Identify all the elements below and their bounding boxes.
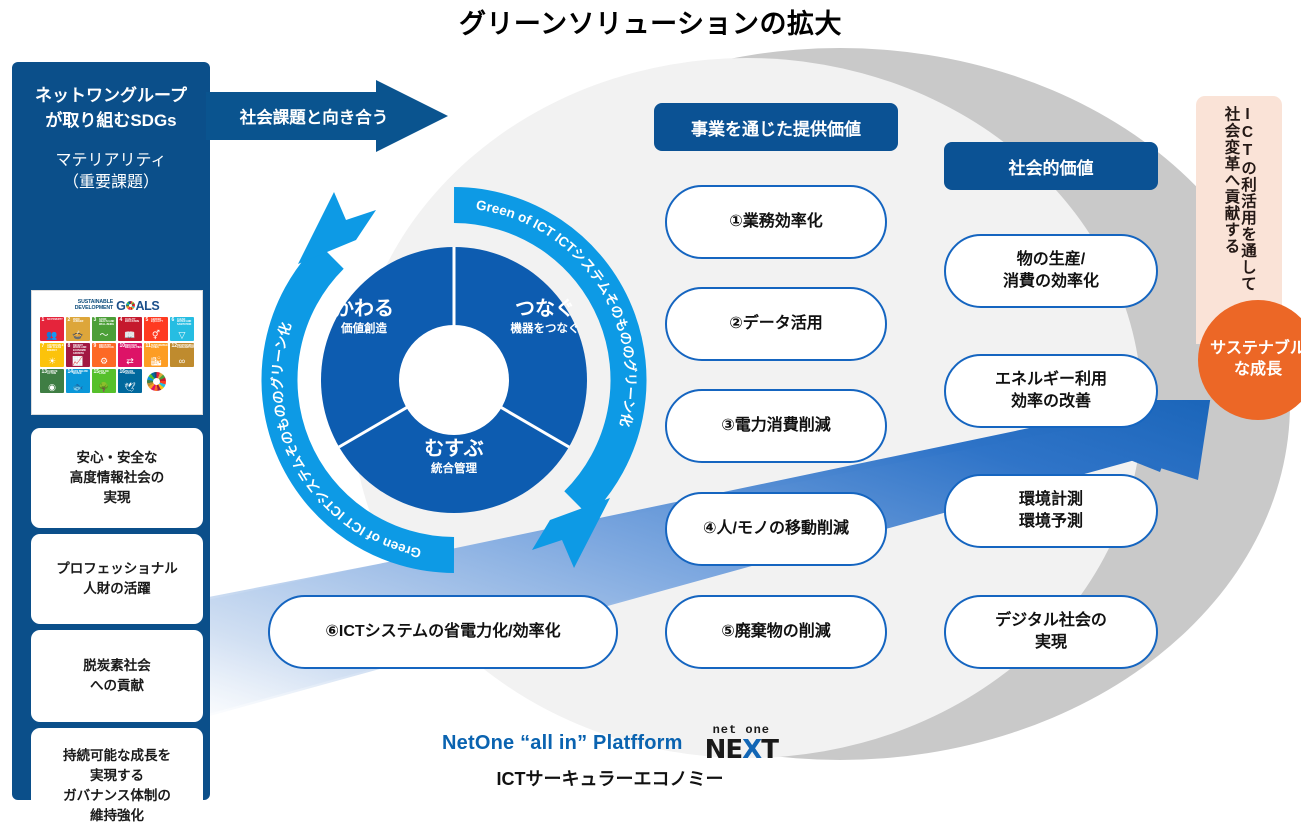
sidebar-subtitle-line2: （重要課題） (12, 172, 210, 194)
sdg-poster: SUSTAINABLE DEVELOPMENT GALS 1NO POVERTY… (31, 290, 203, 415)
donut (321, 247, 587, 513)
sidebar-subtitle-line1: マテリアリティ (12, 150, 210, 172)
sdg-sidebar: ネットワングループ が取り組むSDGs マテリアリティ （重要課題） SUSTA… (12, 62, 210, 800)
sdg-poster-header: SUSTAINABLE DEVELOPMENT GALS (40, 298, 194, 313)
value-column-header: 事業を通じた提供価値 (654, 103, 898, 151)
sdg-goal-tile: 14LIFE BELOW WATER🐟 (66, 369, 90, 393)
value-item-3: ③電力消費削減 (665, 389, 887, 463)
value-item-6-wide: ⑥ICTシステムの省電力化/効率化 (268, 595, 618, 669)
value-item-5: ⑤廃棄物の削減 (665, 595, 887, 669)
logo-next-pre: NE (705, 735, 743, 765)
sdg-goals-post: ALS (135, 299, 159, 313)
platform-name: NetOne “all in” Platfform (442, 732, 683, 755)
sdg-goal-tile: 6CLEAN WATER AND SANITATION▽ (170, 317, 194, 341)
sdg-goal-tile: 9INDUSTRY INNOVATION⚙ (92, 343, 116, 367)
materiality-chip: プロフェッショナル人財の活躍 (31, 534, 203, 624)
logo-next-text: NEXT (705, 737, 778, 763)
social-issue-arrow: 社会課題と向き合う (206, 80, 448, 152)
social-item-2: エネルギー利用効率の改善 (944, 354, 1158, 428)
sdg-goal-tile: 7AFFORDABLE AND CLEAN ENERGY☀ (40, 343, 64, 367)
sdg-wheel-tile (144, 369, 168, 393)
social-item-1: 物の生産/消費の効率化 (944, 234, 1158, 308)
value-item-4: ④人/モノの移動削減 (665, 492, 887, 566)
materiality-chip: 持続可能な成長を実現するガバナンス体制の維持強化 (31, 728, 203, 823)
logo-next-x: X (742, 735, 761, 765)
sdg-goal-tile: 2ZERO HUNGER🍲 (66, 317, 90, 341)
sdg-goal-tile: 1NO POVERTY👥 (40, 317, 64, 341)
sidebar-title-line2: が取り組むSDGs (12, 109, 210, 134)
sdg-goal-tile: 10REDUCED INEQUALITIES⇄ (118, 343, 142, 367)
value-item-1: ①業務効率化 (665, 185, 887, 259)
page-title: グリーンソリューションの拡大 (0, 2, 1301, 41)
sidebar-title: ネットワングループ が取り組むSDGs (12, 84, 210, 133)
social-item-4: デジタル社会の実現 (944, 595, 1158, 669)
materiality-chip: 脱炭素社会への貢献 (31, 630, 203, 722)
social-column-header: 社会的価値 (944, 142, 1158, 190)
circular-diagram: Green of ICT ICTシステムそのもののグリーン化 Green of … (244, 180, 664, 580)
sdg-goal-tile: 12RESPONSIBLE CONSUMPTION∞ (170, 343, 194, 367)
sdg-header-line2: DEVELOPMENT (75, 306, 113, 311)
sdg-goal-tile: 5GENDER EQUALITY⚥ (144, 317, 168, 341)
netone-next-logo: net one NEXT (705, 724, 778, 763)
sidebar-title-line1: ネットワングループ (12, 84, 210, 109)
sdg-color-wheel-icon (126, 301, 135, 310)
sdg-goal-tile: 11SUSTAINABLE CITIES🏙 (144, 343, 168, 367)
infographic-canvas: グリーンソリューションの拡大 ネットワングループ が取り組むSDGs マテリアリ… (0, 0, 1301, 823)
sdg-goal-tile: 3GOOD HEALTH AND WELL-BEING〜 (92, 317, 116, 341)
sdg-goal-tile: 15LIFE ON LAND🌳 (92, 369, 116, 393)
sustainable-growth-line1: サステナブル (1210, 339, 1301, 360)
sdg-header-goals: GALS (116, 299, 159, 313)
branding-caption: ICTサーキュラーエコノミー (330, 765, 890, 791)
sdg-goal-grid: 1NO POVERTY👥2ZERO HUNGER🍲3GOOD HEALTH AN… (40, 317, 194, 393)
logo-next-post: T (761, 735, 778, 765)
sdg-goal-tile: 16PEACE JUSTICE🕊 (118, 369, 142, 393)
sustainable-growth-line2: な成長 (1234, 360, 1282, 381)
sdg-goal-tile: 13CLIMATE ACTION◉ (40, 369, 64, 393)
sdg-goal-tile: 4QUALITY EDUCATION📖 (118, 317, 142, 341)
sdg-goals-pre: G (116, 299, 125, 313)
sdg-goal-tile: 8DECENT WORK AND ECONOMIC GROWTH📈 (66, 343, 90, 367)
value-item-2: ②データ活用 (665, 287, 887, 361)
branding-row: NetOne “all in” Platfform net one NEXT (330, 726, 890, 760)
social-item-3: 環境計測環境予測 (944, 474, 1158, 548)
sidebar-subtitle: マテリアリティ （重要課題） (12, 150, 210, 195)
materiality-chip: 安心・安全な高度情報社会の実現 (31, 428, 203, 528)
